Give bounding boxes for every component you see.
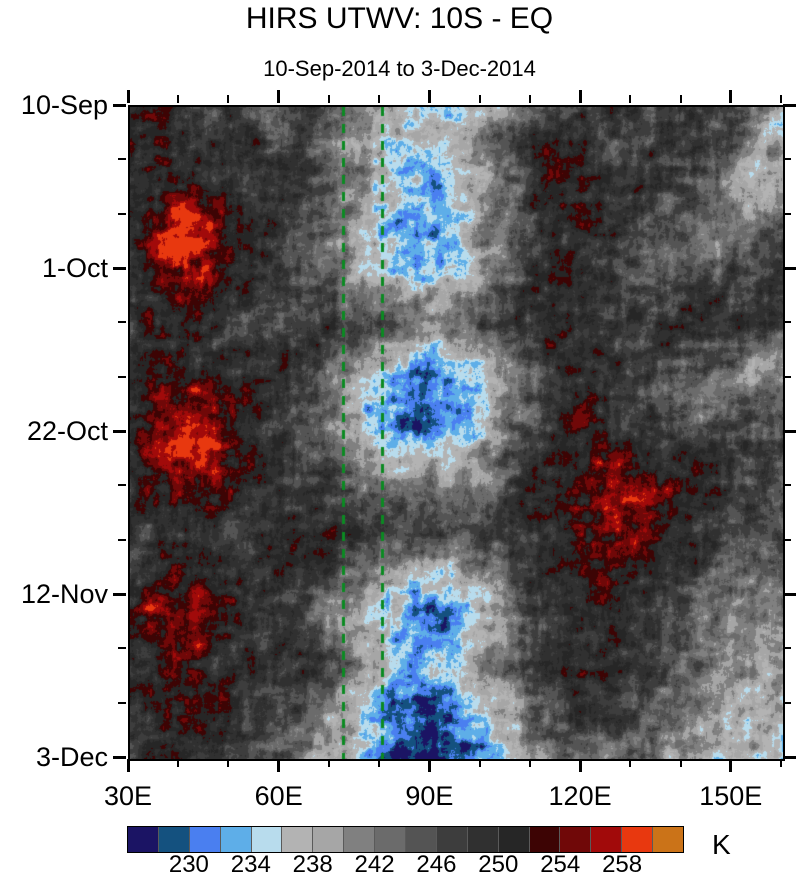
x-axis-tick	[328, 95, 330, 103]
y-axis-tick	[783, 647, 791, 649]
x-axis-tick	[780, 759, 782, 767]
colorbar-swatch	[128, 827, 158, 852]
y-axis-tick	[118, 484, 126, 486]
colorbar-swatch	[621, 827, 652, 852]
x-axis-tick	[177, 759, 179, 767]
y-axis-tick	[783, 104, 796, 107]
colorbar-tick-label: 234	[231, 852, 271, 878]
y-axis-tick	[118, 376, 126, 378]
colorbar-swatch	[529, 827, 560, 852]
figure-root: HIRS UTWV: 10S - EQ 10-Sep-2014 to 3-Dec…	[0, 0, 799, 869]
colorbar-swatch	[590, 827, 621, 852]
y-axis-tick-label: 10-Sep	[21, 90, 108, 120]
y-axis-tick	[783, 702, 791, 704]
y-axis-tick-label: 22-Oct	[27, 416, 108, 446]
y-axis-tick	[118, 647, 126, 649]
x-axis-tick	[127, 90, 130, 103]
colorbar-tick-label: 230	[169, 852, 209, 878]
colorbar-swatch	[220, 827, 251, 852]
x-axis-tick	[529, 759, 531, 767]
colorbar-swatch	[436, 827, 467, 852]
y-axis-tick-label: 12-Nov	[21, 579, 108, 609]
annotation-overlay-canvas	[130, 107, 783, 759]
x-axis-tick-label: 120E	[549, 781, 612, 811]
x-axis-tick	[428, 759, 431, 772]
hovmoller-plot-area	[128, 105, 785, 761]
x-axis-tick	[780, 95, 782, 103]
colorbar-swatch	[559, 827, 590, 852]
colorbar-tick-label: 250	[478, 852, 518, 878]
y-axis-tick	[783, 539, 791, 541]
y-axis-tick	[113, 267, 126, 270]
y-axis-tick	[783, 430, 796, 433]
y-axis-tick	[783, 267, 796, 270]
y-axis-tick	[783, 213, 791, 215]
x-axis-tick-label: 90E	[405, 781, 453, 811]
x-axis-tick	[680, 759, 682, 767]
y-axis-tick	[113, 430, 126, 433]
x-axis-tick	[277, 90, 280, 103]
colorbar-tick-label: 242	[355, 852, 395, 878]
x-axis-tick	[428, 90, 431, 103]
colorbar-tick-label: 254	[540, 852, 580, 878]
colorbar-swatch	[189, 827, 220, 852]
x-axis-tick	[177, 95, 179, 103]
y-axis-tick	[783, 158, 791, 160]
x-axis-tick	[277, 759, 280, 772]
x-axis-tick	[479, 95, 481, 103]
x-axis-tick	[328, 759, 330, 767]
y-axis-tick	[118, 321, 126, 323]
colorbar-swatch	[498, 827, 529, 852]
y-axis-tick	[783, 376, 791, 378]
x-axis-tick	[127, 759, 130, 772]
page-title: HIRS UTWV: 10S - EQ	[0, 2, 799, 36]
y-axis-tick	[783, 321, 791, 323]
y-axis-tick	[783, 484, 791, 486]
x-axis-tick	[629, 759, 631, 767]
colorbar-tick-label: 258	[602, 852, 642, 878]
colorbar-tick-label: 238	[293, 852, 333, 878]
y-axis-tick	[113, 756, 126, 759]
x-axis-tick	[579, 90, 582, 103]
x-axis-tick	[579, 759, 582, 772]
x-axis-tick	[680, 95, 682, 103]
colorbar-swatch	[312, 827, 343, 852]
colorbar	[127, 826, 684, 853]
y-axis-tick	[118, 213, 126, 215]
x-axis-tick-label: 30E	[104, 781, 152, 811]
colorbar-swatch	[251, 827, 282, 852]
y-axis-tick	[118, 702, 126, 704]
y-axis-tick	[113, 593, 126, 596]
y-axis-tick-label: 1-Oct	[42, 253, 108, 283]
y-axis-tick	[783, 756, 796, 759]
x-axis-tick	[378, 759, 380, 767]
colorbar-swatch	[281, 827, 312, 852]
colorbar-swatch	[158, 827, 189, 852]
x-axis-tick	[729, 759, 732, 772]
y-axis-tick-label: 3-Dec	[36, 742, 108, 772]
x-axis-tick	[529, 95, 531, 103]
colorbar-swatch	[652, 827, 683, 852]
y-axis-tick	[783, 593, 796, 596]
x-axis-tick-label: 150E	[699, 781, 762, 811]
colorbar-units-label: K	[712, 830, 731, 860]
colorbar-swatch	[467, 827, 498, 852]
x-axis-tick-label: 60E	[255, 781, 303, 811]
colorbar-swatch	[343, 827, 374, 852]
y-axis-tick	[113, 104, 126, 107]
colorbar-swatch	[374, 827, 405, 852]
figure-subtitle: 10-Sep-2014 to 3-Dec-2014	[0, 52, 799, 86]
x-axis-tick	[629, 95, 631, 103]
colorbar-swatch	[405, 827, 436, 852]
y-axis-tick	[118, 158, 126, 160]
colorbar-tick-label: 246	[416, 852, 456, 878]
y-axis-tick	[118, 539, 126, 541]
x-axis-tick	[729, 90, 732, 103]
x-axis-tick	[479, 759, 481, 767]
x-axis-tick	[227, 95, 229, 103]
x-axis-tick	[378, 95, 380, 103]
x-axis-tick	[227, 759, 229, 767]
